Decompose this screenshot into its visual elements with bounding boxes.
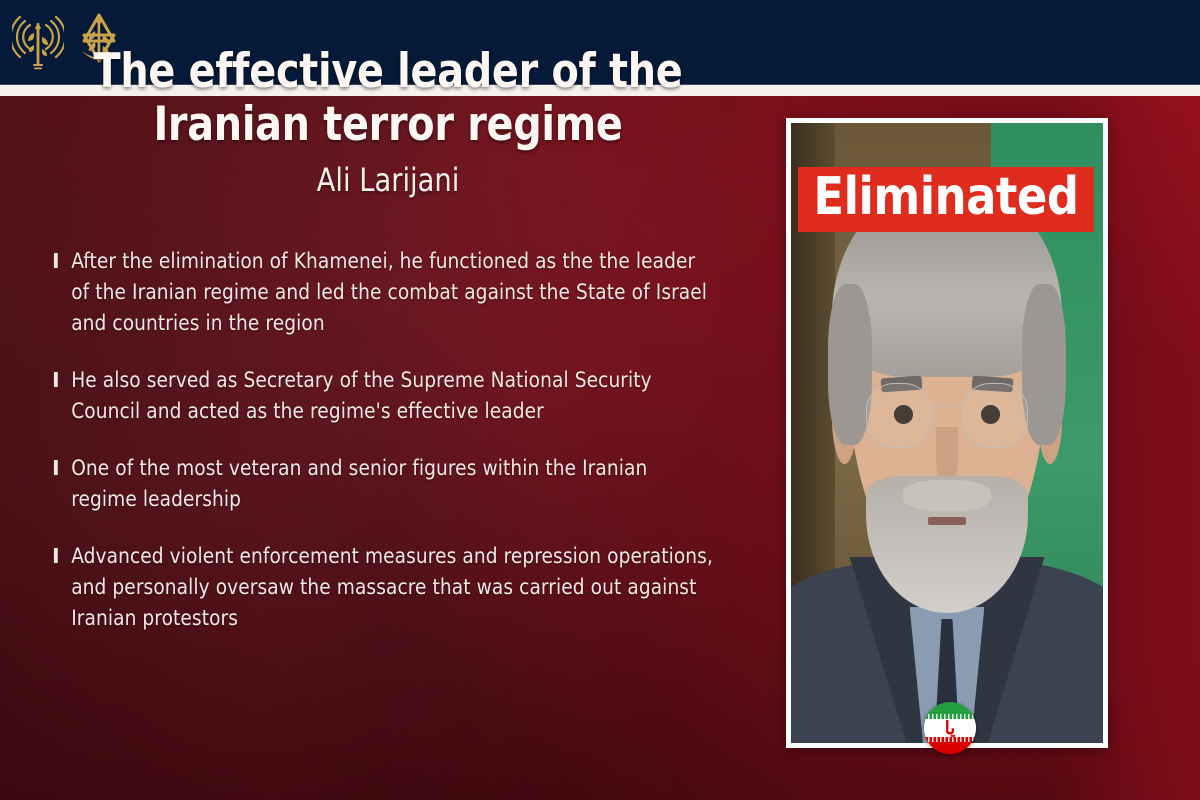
status-badge: Eliminated xyxy=(798,167,1094,232)
subject-name: Ali Larijani xyxy=(69,161,707,199)
list-item: One of the most veteran and senior figur… xyxy=(52,454,714,516)
mouth xyxy=(928,517,965,526)
page-title: The effective leader of the Iranian terr… xyxy=(72,46,704,151)
list-item: After the elimination of Khamenei, he fu… xyxy=(52,247,714,340)
text-column: The effective leader of the Iranian terr… xyxy=(52,46,752,661)
list-item-text: One of the most veteran and senior figur… xyxy=(71,456,647,512)
hair-side-right xyxy=(1022,284,1066,445)
iran-flag-icon: یا xyxy=(924,702,976,754)
bullet-marker-icon xyxy=(54,460,58,475)
lens-left xyxy=(866,383,933,448)
list-item: Advanced violent enforcement measures an… xyxy=(52,542,714,635)
lens-right xyxy=(962,383,1029,448)
glasses-bridge xyxy=(932,406,961,408)
bullet-marker-icon xyxy=(54,372,58,387)
list-item: He also served as Secretary of the Supre… xyxy=(52,366,714,428)
list-item-text: He also served as Secretary of the Supre… xyxy=(71,368,652,424)
poster-root: The effective leader of the Iranian terr… xyxy=(0,0,1200,800)
bullet-list: After the elimination of Khamenei, he fu… xyxy=(52,247,742,635)
flag-emblem: یا xyxy=(945,719,956,737)
list-item-text: Advanced violent enforcement measures an… xyxy=(71,544,713,631)
bullet-marker-icon xyxy=(54,548,58,563)
list-item-text: After the elimination of Khamenei, he fu… xyxy=(71,249,707,336)
mustache xyxy=(903,480,990,511)
bullet-marker-icon xyxy=(54,253,58,268)
